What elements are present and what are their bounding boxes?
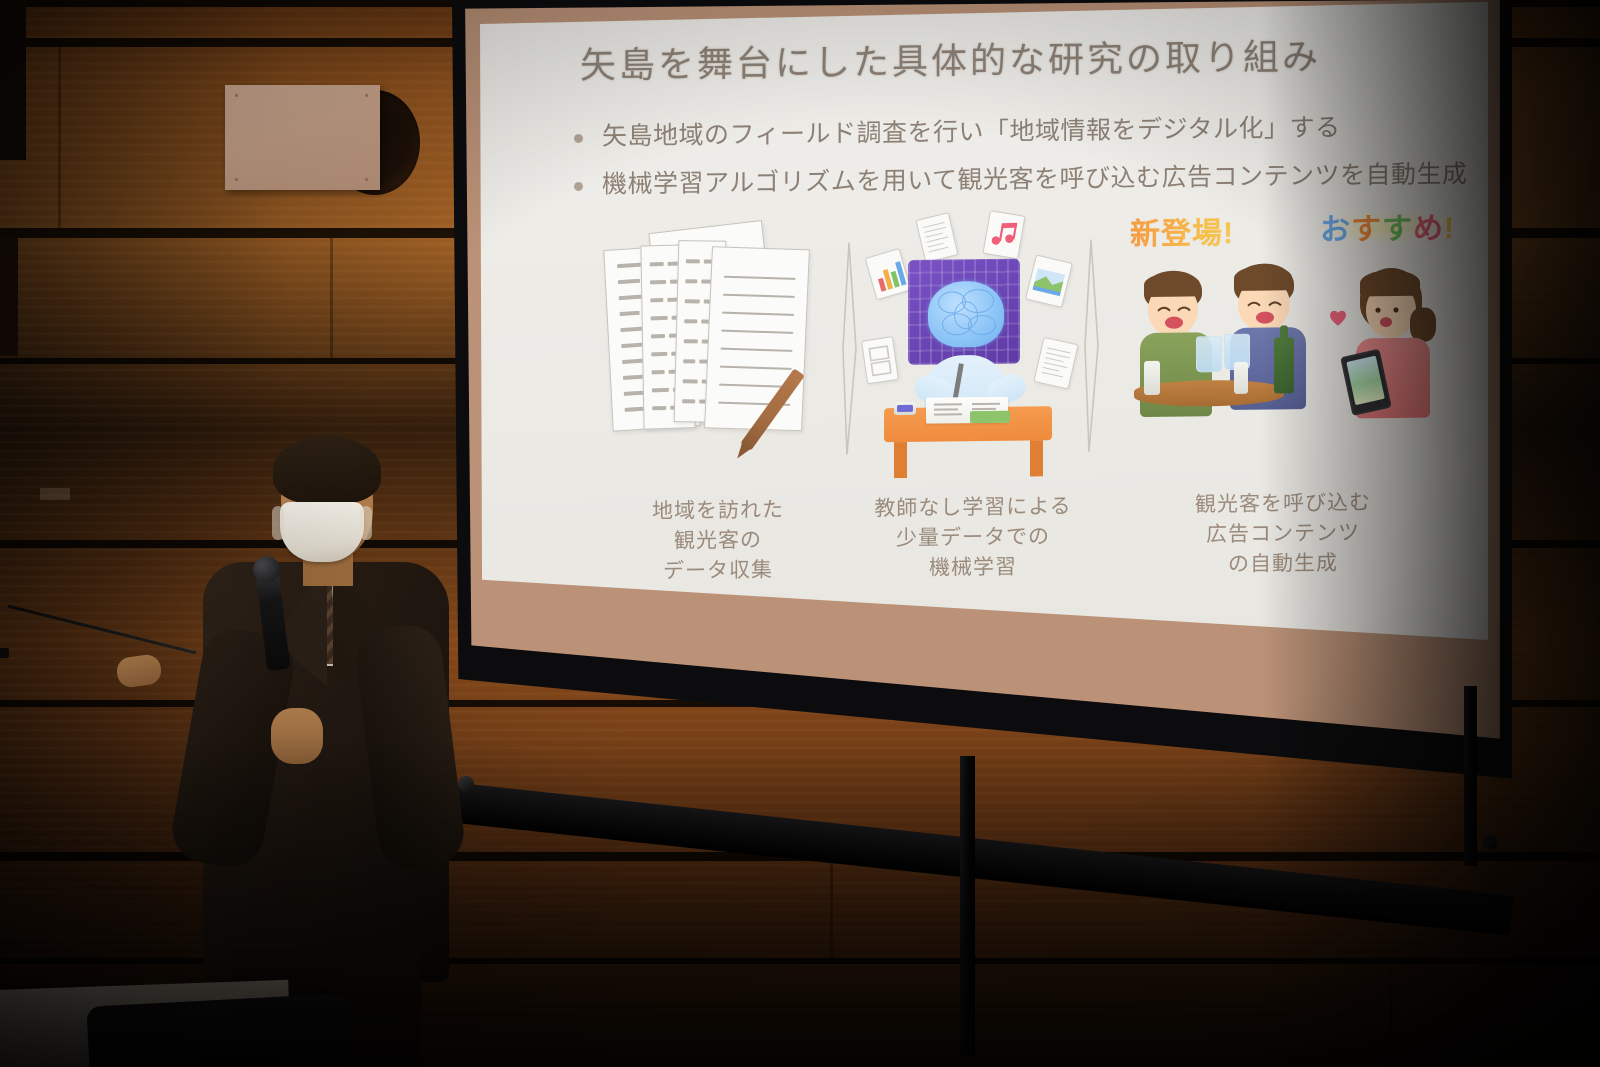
microphone-head xyxy=(252,555,282,584)
presentation-photo-scene: 矢島を舞台にした具体的な研究の取り組み 矢島地域のフィールド調査を行い「地域情報… xyxy=(0,0,1600,1067)
pointer-stick-tip xyxy=(0,648,9,658)
bullet-dot-icon xyxy=(574,182,583,191)
bullet-dot-icon xyxy=(574,134,583,143)
landscape-card-icon xyxy=(1025,254,1073,308)
music-card-icon xyxy=(982,210,1025,259)
caption-line: 観光客の xyxy=(598,525,838,558)
hair xyxy=(273,436,381,504)
text-card-icon xyxy=(915,212,958,263)
text-card-icon xyxy=(1033,337,1078,390)
brain-icon xyxy=(928,281,1004,348)
screw-icon xyxy=(365,94,368,97)
desk-leg xyxy=(894,442,907,478)
chevron-divider-icon xyxy=(840,241,860,457)
caption-line: データ収集 xyxy=(598,554,838,587)
ai-robot-illustration xyxy=(858,210,1088,485)
desk-leg xyxy=(1030,440,1043,476)
wall-panel-joint xyxy=(330,238,333,358)
survey-papers-illustration xyxy=(598,213,838,488)
slide-title: 矢島を舞台にした具体的な研究の取り組み xyxy=(580,28,1321,89)
screw-icon xyxy=(365,178,368,181)
wall-dark-edge xyxy=(0,0,26,160)
wall-panel-joint xyxy=(58,47,61,228)
caption-line: 少量データでの xyxy=(858,522,1088,555)
chevron-divider-icon xyxy=(1082,238,1102,454)
caption-line: 地域を訪れた xyxy=(598,495,838,528)
room-shadow xyxy=(0,737,1600,1067)
book-cover xyxy=(970,411,1010,423)
form-card-icon xyxy=(861,336,899,384)
wall-small-sign xyxy=(40,488,70,500)
panel-caption: 教師なし学習による 少量データでの 機械学習 xyxy=(858,492,1088,584)
hand-holding-pointer xyxy=(115,653,163,689)
small-bottle-icon xyxy=(1234,362,1248,394)
panel-machine-learning: 教師なし学習による 少量データでの 機械学習 xyxy=(858,210,1088,643)
beer-mug-icon xyxy=(1196,336,1222,372)
wall-access-plate xyxy=(225,85,380,190)
screw-icon xyxy=(235,94,238,97)
panel-caption: 地域を訪れた 観光客の データ収集 xyxy=(598,495,838,587)
panel-data-collection: 地域を訪れた 観光客の データ収集 xyxy=(598,213,838,646)
eraser-icon xyxy=(894,402,916,415)
wall-dark-edge xyxy=(0,236,18,356)
chart-card-icon xyxy=(865,248,912,300)
caption-line: 機械学習 xyxy=(858,551,1088,584)
screw-icon xyxy=(235,178,238,181)
paper-sheet-front xyxy=(704,246,810,431)
face-mask xyxy=(280,502,364,562)
caption-line: 教師なし学習による xyxy=(858,492,1088,525)
small-bottle-icon xyxy=(1144,361,1160,395)
ad-label-new-arrival: 新登場! xyxy=(1130,208,1234,253)
slide-bullet-text: 矢島地域のフィールド調査を行い「地域情報をデジタル化」する xyxy=(602,112,1341,155)
